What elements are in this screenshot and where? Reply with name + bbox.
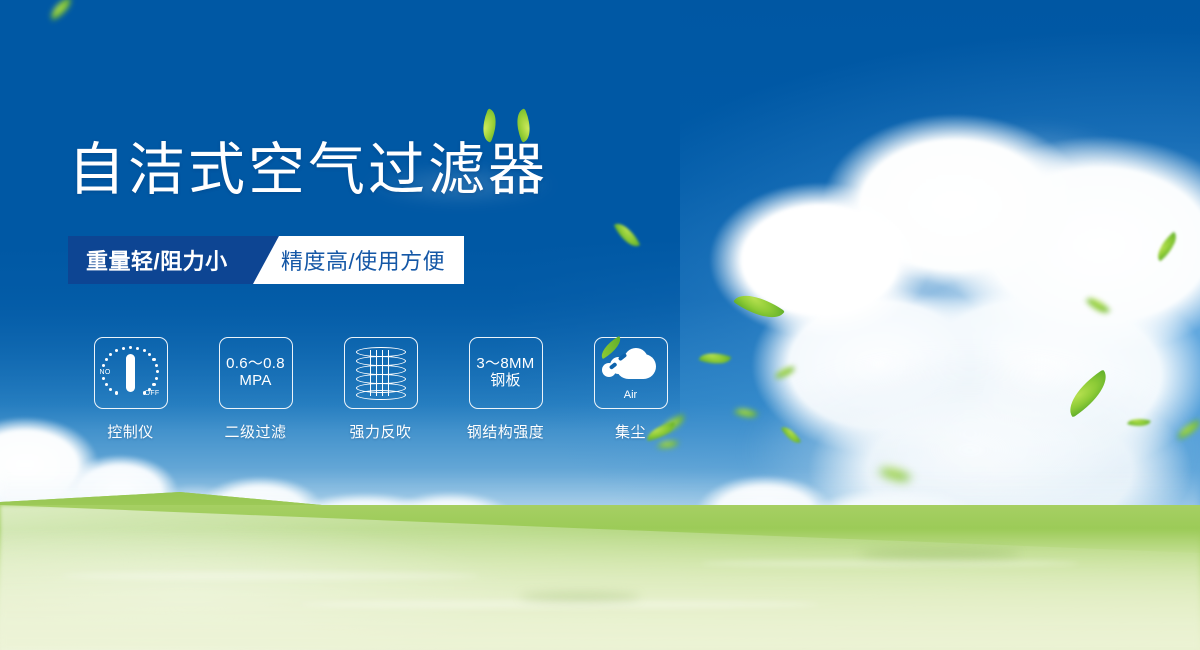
air-label: Air	[602, 389, 660, 401]
page-title: 自洁式空气过滤器	[68, 142, 548, 199]
feature-box-text-line2: 钢板	[476, 373, 534, 390]
subtitle-left-text: 重量轻/阻力小	[86, 236, 228, 284]
feature-caption: 钢结构强度	[467, 421, 545, 442]
feature-box-text: 3～8MM 钢板	[476, 356, 534, 390]
feature-caption: 控制仪	[107, 421, 154, 442]
feature-icon-box: 0.6～0.8 MPA	[219, 337, 293, 409]
grass-patch	[860, 548, 1020, 560]
feature-icon-box: 3～8MM 钢板	[469, 337, 543, 409]
feature-item-steel[interactable]: 3～8MM 钢板 钢结构强度	[443, 337, 568, 442]
feature-caption: 集尘	[615, 421, 646, 442]
grass-patch	[520, 592, 640, 602]
gauge-icon: NO OFF	[102, 345, 160, 401]
feature-box-text: 0.6～0.8 MPA	[226, 356, 285, 390]
feature-box-text-line1: 3～8MM	[476, 355, 534, 372]
feature-icon-box	[344, 337, 418, 409]
feature-item-pressure[interactable]: 0.6～0.8 MPA 二级过滤	[193, 337, 318, 442]
subtitle-right-text: 精度高/使用方便	[281, 236, 445, 284]
feature-icon-box: Air	[594, 337, 668, 409]
feature-list: NO OFF 控制仪 0.6～0.8 MPA 二级过滤	[68, 337, 693, 442]
feature-icon-box: NO OFF	[94, 337, 168, 409]
grass-foreground-fade	[0, 530, 1200, 650]
gauge-label-off: OFF	[145, 390, 160, 397]
gauge-label-no: NO	[100, 369, 111, 376]
grass-streak	[60, 572, 480, 580]
gauge-needle	[126, 354, 135, 392]
feature-box-text-line2: MPA	[226, 373, 285, 390]
feature-caption: 强力反吹	[349, 421, 411, 442]
feature-caption: 二级过滤	[224, 421, 286, 442]
subtitle-bar: 重量轻/阻力小 精度高/使用方便	[68, 236, 464, 284]
feature-box-text-line1: 0.6～0.8	[226, 355, 285, 372]
feature-item-control-gauge[interactable]: NO OFF 控制仪	[68, 337, 193, 442]
stacked-filter-icon	[356, 347, 406, 399]
feature-item-backblow[interactable]: 强力反吹	[318, 337, 443, 442]
product-banner: 自洁式空气过滤器 重量轻/阻力小 精度高/使用方便	[0, 0, 1200, 650]
air-cloud-icon: Air	[602, 348, 660, 398]
grass-streak	[700, 560, 1080, 567]
